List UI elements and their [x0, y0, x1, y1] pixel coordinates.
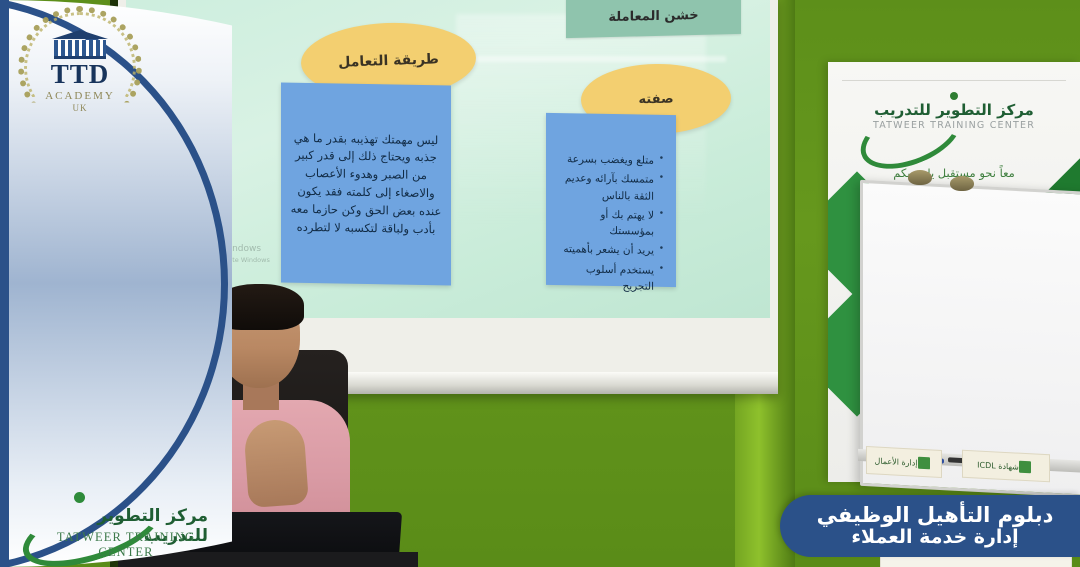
ttd-country: UK: [18, 103, 142, 113]
banner-name-en: TATWEER TRAINING CENTER: [828, 120, 1080, 131]
panel-left-edge: [0, 0, 9, 567]
banner-divider: [842, 80, 1066, 81]
poster-badge-icon: [1019, 461, 1031, 474]
slide-text-box-traits: متلع ويغضب بسرعة متمسك بآرائه وعديم الثق…: [546, 113, 676, 287]
course-title-line-2: إدارة خدمة العملاء: [851, 527, 1018, 548]
course-title-banner: دبلوم التأهيل الوظيفي إدارة خدمة العملاء: [780, 495, 1080, 557]
poster-label: إدارة الأعمال: [874, 456, 917, 467]
tatweer-name-en: TATWEER TRAINING CENTER: [38, 530, 214, 560]
ttd-subtitle: ACADEMY: [18, 90, 142, 102]
tatweer-logo: مركز التطوير للتدريب TATWEER TRAINING CE…: [14, 492, 210, 556]
poster-business-admin: إدارة الأعمال: [866, 446, 942, 478]
ttd-logo-content: TTD ACADEMY UK: [18, 30, 142, 113]
ttd-acronym: TTD: [18, 61, 142, 88]
poster-label: شهادة ICDL: [977, 460, 1019, 471]
decor-object-left: [908, 170, 932, 185]
course-promo-card: خشن المعاملة طريقة التعامل صفته ليس مهمت…: [0, 0, 1080, 567]
banner-name-ar: مركز التطوير للتدريب: [828, 101, 1080, 119]
decor-object-right: [950, 176, 974, 191]
ttd-academy-logo: TTD ACADEMY UK: [18, 6, 142, 130]
list-item: يستخدم أسلوب التجريح: [554, 261, 654, 295]
poster-icdl: شهادة ICDL: [962, 450, 1050, 483]
poster-badge-icon: [918, 457, 930, 470]
presenter-hands: [243, 418, 309, 508]
banner-logo-dot-icon: [950, 92, 958, 100]
slide-title-box: خشن المعاملة: [566, 0, 741, 38]
banner-logo: مركز التطوير للتدريب TATWEER TRAINING CE…: [828, 92, 1080, 131]
list-item: يريد أن يشعر بأهميته: [554, 241, 654, 259]
slide-trait-list: متلع ويغضب بسرعة متمسك بآرائه وعديم الثق…: [554, 151, 668, 295]
list-item: لا يهتم بك أو بمؤسستك: [554, 206, 654, 240]
tatweer-dot-icon: [74, 492, 85, 503]
list-item: متلع ويغضب بسرعة: [554, 151, 654, 169]
temple-roof-icon: [52, 30, 108, 39]
list-item: متمسك بآرائه وعديم الثقة بالناس: [554, 170, 654, 204]
temple-columns-icon: [54, 40, 106, 59]
course-title-line-1: دبلوم التأهيل الوظيفي: [817, 504, 1054, 528]
